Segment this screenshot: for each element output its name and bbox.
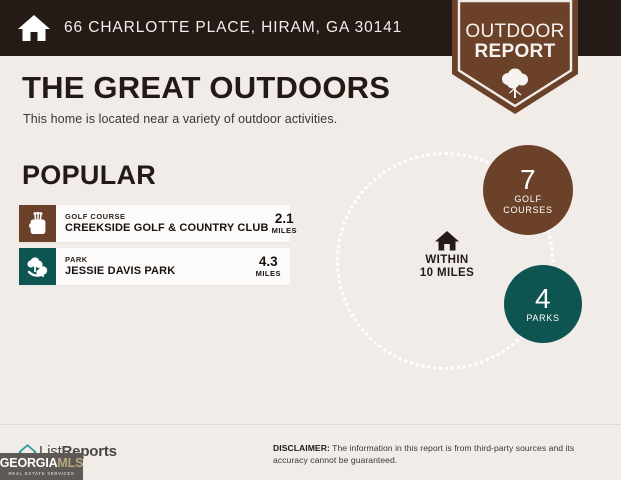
distance-unit: MILES — [256, 269, 281, 278]
list-item-distance: 2.1 MILES — [269, 205, 306, 242]
popular-heading: POPULAR — [22, 160, 156, 191]
list-item-category: PARK — [65, 255, 253, 265]
georgia-mls-logo: GEORGIAMLS REAL ESTATE SERVICES — [0, 453, 83, 480]
radius-line1: WITHIN — [410, 254, 484, 267]
within-radius-diagram: WITHIN 10 MILES 7 GOLF COURSES 4 PARKS — [330, 145, 621, 385]
page-title: THE GREAT OUTDOORS — [22, 70, 390, 106]
list-item-name: CREEKSIDE GOLF & COUNTRY CLUB — [65, 222, 269, 235]
disclaimer: DISCLAIMER: The information in this repo… — [273, 443, 598, 466]
radius-center-label: WITHIN 10 MILES — [410, 230, 484, 280]
outdoor-report-page: 66 CHARLOTTE PLACE, HIRAM, GA 30141 OUTD… — [0, 0, 621, 480]
golf-bag-icon-tile — [19, 205, 56, 242]
badge-line2: REPORT — [475, 41, 556, 62]
distance-value: 4.3 — [259, 255, 278, 269]
badge-line1: OUTDOOR — [465, 21, 564, 42]
distance-unit: MILES — [272, 226, 297, 235]
list-item-category: GOLF COURSE — [65, 212, 269, 222]
list-item-text: PARK JESSIE DAVIS PARK — [56, 248, 253, 285]
disclaimer-label: DISCLAIMER: — [273, 443, 330, 453]
property-address: 66 CHARLOTTE PLACE, HIRAM, GA 30141 — [64, 19, 402, 37]
page-subtitle: This home is located near a variety of o… — [23, 112, 337, 126]
list-item-text: GOLF COURSE CREEKSIDE GOLF & COUNTRY CLU… — [56, 205, 269, 242]
stat-count: 4 — [535, 284, 551, 313]
georgia-mls-georgia: GEORGIA — [0, 456, 57, 470]
list-item-name: JESSIE DAVIS PARK — [65, 265, 253, 278]
stat-count: 7 — [520, 165, 536, 194]
stat-bubble-golf-courses: 7 GOLF COURSES — [483, 145, 573, 235]
georgia-mls-mls: MLS — [57, 456, 83, 470]
trees-icon-tile — [19, 248, 56, 285]
footer-divider — [0, 424, 621, 425]
stat-label-line1: PARKS — [526, 313, 559, 324]
stat-bubble-parks: 4 PARKS — [504, 265, 582, 343]
list-item[interactable]: GOLF COURSE CREEKSIDE GOLF & COUNTRY CLU… — [19, 205, 290, 242]
georgia-mls-tagline: REAL ESTATE SERVICES — [9, 471, 75, 477]
list-item[interactable]: PARK JESSIE DAVIS PARK 4.3 MILES — [19, 248, 290, 285]
stat-label-line2: COURSES — [503, 205, 552, 216]
radius-line2: 10 MILES — [410, 267, 484, 280]
outdoor-report-badge: OUTDOOR REPORT — [452, 0, 578, 114]
distance-value: 2.1 — [275, 212, 294, 226]
home-icon — [434, 230, 460, 252]
golf-bag-icon — [27, 212, 49, 236]
list-item-distance: 4.3 MILES — [253, 248, 290, 285]
home-icon — [17, 13, 51, 43]
trees-icon — [26, 256, 50, 278]
georgia-mls-wordmark: GEORGIAMLS — [0, 457, 83, 470]
popular-list: GOLF COURSE CREEKSIDE GOLF & COUNTRY CLU… — [19, 205, 290, 291]
stat-label-line1: GOLF — [514, 194, 541, 205]
